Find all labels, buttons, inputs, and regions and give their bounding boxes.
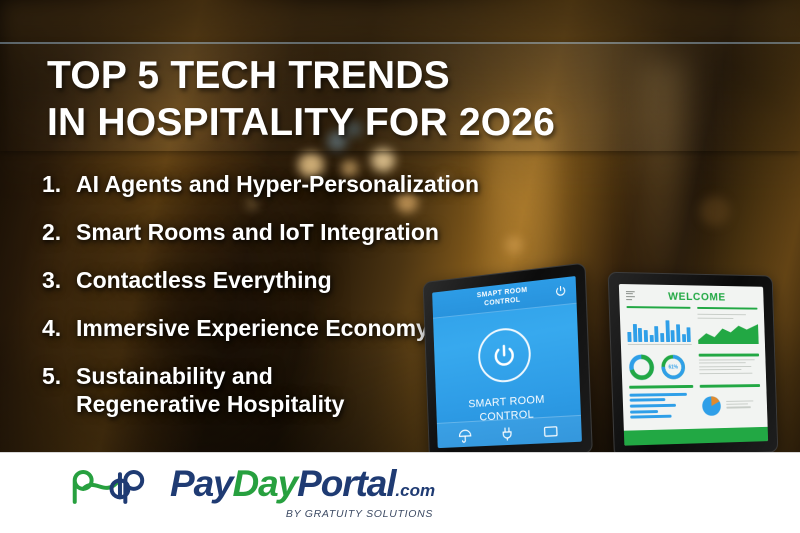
dashboard-footer-bar	[624, 427, 768, 446]
list-item-label: AI Agents and Hyper-Personalization	[76, 170, 479, 198]
pie-panel	[699, 391, 761, 419]
stats-lines	[698, 359, 759, 374]
dashboard-row-bottom-rules	[629, 384, 760, 388]
poster-canvas: TOP 5 TECH TRENDS IN HOSPITALITY FOR 2O2…	[0, 0, 800, 533]
list-item-number: 1.	[42, 170, 76, 198]
list-item-number: 5.	[42, 362, 76, 390]
dashboard-grid: 61%	[620, 306, 768, 431]
plug-icon[interactable]	[499, 425, 515, 442]
brand-wordmark: PayDayPortal.com BY GRATUITY SOLUTIONS	[170, 463, 435, 520]
dashboard-title: WELCOME	[635, 290, 758, 304]
list-item: 2. Smart Rooms and IoT Integration	[42, 218, 562, 246]
power-toggle-button[interactable]	[477, 326, 531, 384]
section-rule	[697, 307, 758, 310]
umbrella-icon[interactable]	[457, 427, 473, 443]
dashboard-row-lists	[629, 391, 761, 421]
hamburger-icon[interactable]	[626, 291, 635, 302]
section-rule	[626, 306, 690, 309]
section-rule	[698, 354, 759, 356]
donut-chart-green	[628, 354, 655, 381]
dashboard-header: WELCOME	[619, 284, 764, 308]
section-rule	[629, 385, 693, 388]
donut-panel: 61%	[628, 354, 692, 381]
list-item-label: Smart Rooms and IoT Integration	[76, 218, 439, 246]
dashboard-row-donuts: 61%	[628, 354, 760, 381]
dashboard-row-rules	[626, 306, 757, 310]
stats-panel	[698, 354, 760, 380]
bar-chart	[627, 316, 691, 342]
dashboard-row-charts	[627, 313, 759, 349]
area-chart	[697, 321, 759, 344]
brand-logo[interactable]: PayDayPortal.com BY GRATUITY SOLUTIONS	[64, 463, 435, 520]
bar-chart-axis-labels	[628, 344, 692, 345]
pie-legend	[726, 400, 761, 411]
pdp-monogram-icon	[64, 463, 156, 507]
pie-chart	[700, 394, 723, 418]
list-item-label: Contactless Everything	[76, 266, 332, 294]
list-item-number: 2.	[42, 218, 76, 246]
list-item-label: Sustainability and Regenerative Hospital…	[76, 362, 344, 418]
power-icon	[491, 341, 517, 369]
list-item-number: 3.	[42, 266, 76, 294]
power-icon[interactable]	[554, 284, 567, 298]
list-item-label: Immersive Experience Economy	[76, 314, 429, 342]
area-chart-labels	[697, 314, 758, 319]
tablet-smart-room-control[interactable]: SMAPT ROOM CONTROL SMART ROOM CONTROL	[423, 262, 593, 460]
tablet-left-screen[interactable]: SMAPT ROOM CONTROL SMART ROOM CONTROL	[432, 276, 582, 448]
brand-part-pay: Pay	[170, 463, 233, 504]
blue-bars-panel	[629, 393, 693, 422]
area-chart-panel	[697, 314, 759, 349]
brand-part-dotcom: .com	[395, 481, 435, 500]
bar-chart-panel	[627, 313, 692, 349]
tablet-welcome-dashboard[interactable]: WELCOME	[608, 272, 779, 458]
donut-chart-blue: 61%	[660, 354, 686, 381]
smart-room-body: SMART ROOM CONTROL	[433, 304, 582, 448]
list-item: 1. AI Agents and Hyper-Personalization	[42, 170, 562, 198]
donut-value: 61%	[668, 364, 678, 370]
smart-room-icon-bar	[437, 415, 582, 448]
smart-room-header-title: SMAPT ROOM CONTROL	[477, 286, 528, 309]
section-rule	[699, 384, 760, 387]
brand-part-day: Day	[233, 463, 298, 504]
brand-name: PayDayPortal.com	[170, 464, 435, 511]
footer-bar: PayDayPortal.com BY GRATUITY SOLUTIONS	[0, 452, 800, 533]
brand-part-portal: Portal	[297, 463, 395, 504]
donut-chart	[628, 354, 655, 381]
page-title: TOP 5 TECH TRENDS IN HOSPITALITY FOR 2O2…	[47, 52, 747, 146]
list-item-number: 4.	[42, 314, 76, 342]
screen-icon[interactable]	[542, 423, 559, 440]
tablet-right-screen[interactable]: WELCOME	[619, 284, 768, 446]
progress-bars	[629, 393, 693, 419]
